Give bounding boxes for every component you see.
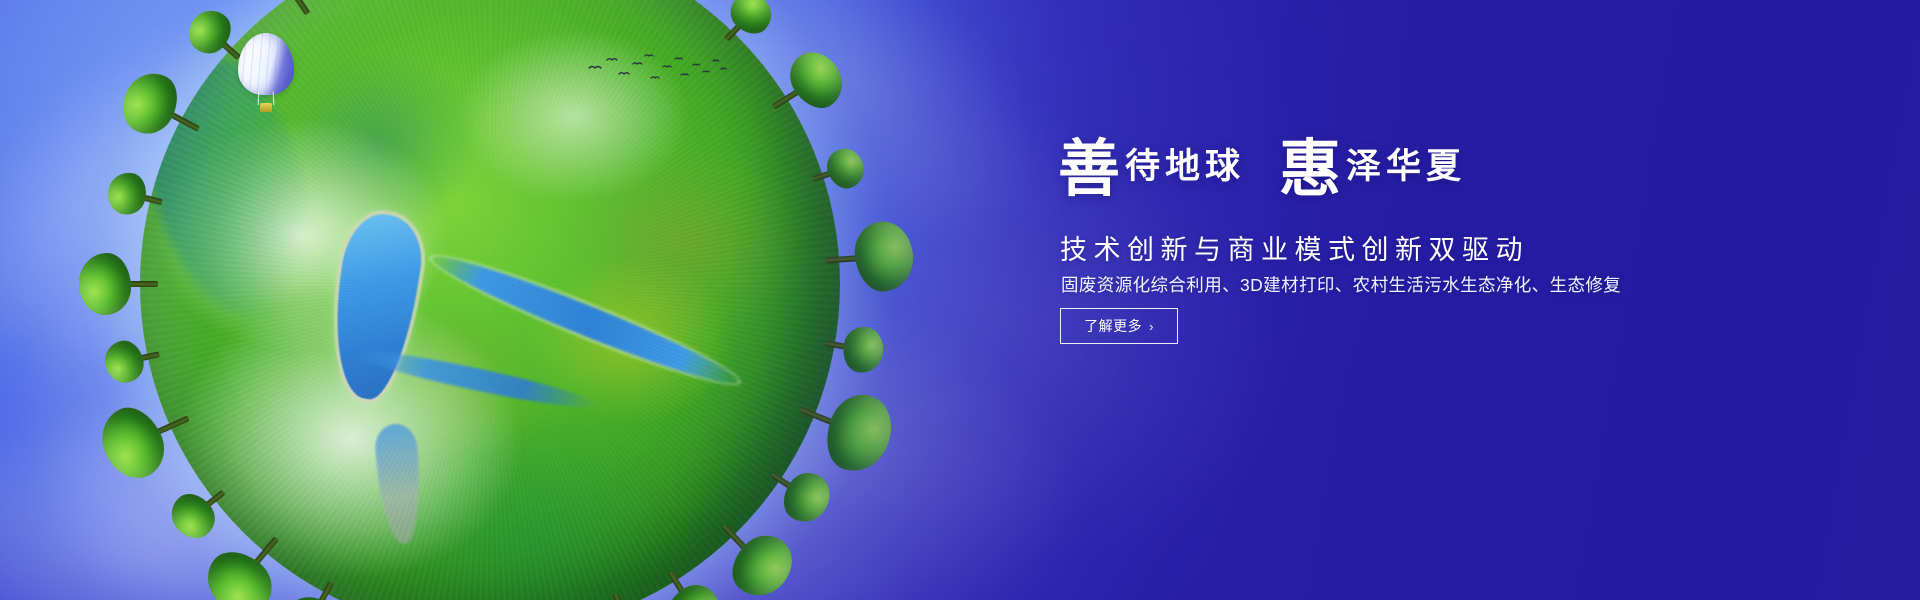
- headline-part1-small: 待地球: [1125, 146, 1245, 187]
- learn-more-button[interactable]: 了解更多 ›: [1060, 308, 1178, 344]
- hero-banner: 善待地球惠泽华夏 技术创新与商业模式创新双驱动 固废资源化综合利用、3D建材打印…: [0, 0, 1920, 600]
- description-text: 固废资源化综合利用、3D建材打印、农村生活污水生态净化、生态修复: [1061, 272, 1621, 297]
- chevron-right-icon: ›: [1149, 320, 1154, 333]
- balloon-gores: [238, 33, 294, 95]
- headline: 善待地球惠泽华夏: [1058, 138, 1678, 200]
- hot-air-balloon-icon: [238, 33, 294, 115]
- birds-flock-icon: [585, 48, 735, 92]
- banner-content: 善待地球惠泽华夏 技术创新与商业模式创新双驱动 固废资源化综合利用、3D建材打印…: [1058, 0, 1678, 600]
- headline-part2-small: 泽华夏: [1346, 146, 1466, 187]
- learn-more-label: 了解更多: [1084, 316, 1142, 336]
- balloon-basket: [260, 103, 272, 112]
- headline-part1-big: 善: [1058, 132, 1119, 205]
- subheadline: 技术创新与商业模式创新双驱动: [1060, 228, 1529, 267]
- headline-part2-big: 惠: [1279, 132, 1340, 205]
